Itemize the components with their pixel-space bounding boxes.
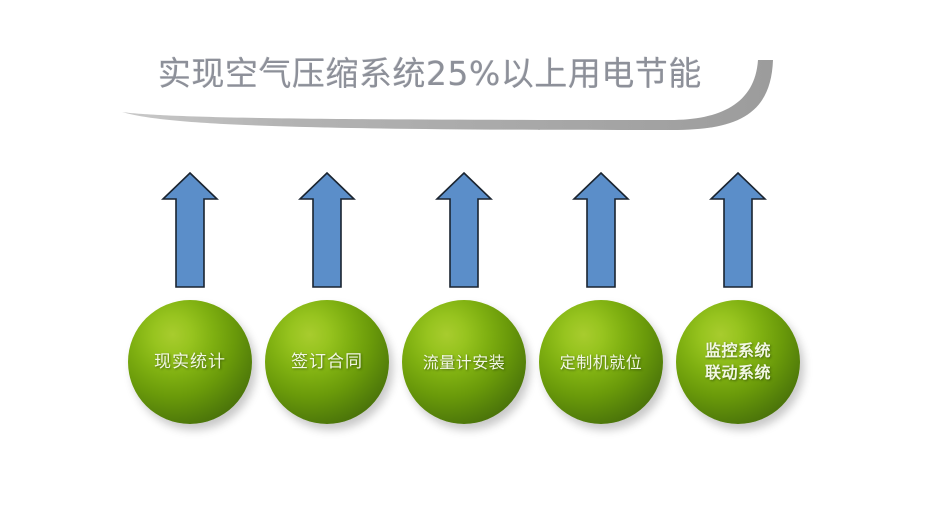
up-arrow-icon [435, 170, 493, 290]
process-step-sphere-2[interactable]: 签订合同 [265, 300, 389, 424]
process-step-label: 签订合同 [287, 351, 367, 374]
process-step-label: 监控系统 联动系统 [701, 340, 775, 384]
process-step-label: 定制机就位 [556, 351, 647, 374]
up-arrow-icon [709, 170, 767, 290]
process-step-sphere-5[interactable]: 监控系统 联动系统 [676, 300, 800, 424]
process-step-label: 流量计安装 [419, 351, 510, 374]
page-title: 实现空气压缩系统25%以上用电节能 [158, 52, 778, 96]
process-step-label: 现实统计 [150, 351, 230, 374]
up-arrow-icon [161, 170, 219, 290]
process-step-sphere-3[interactable]: 流量计安装 [402, 300, 526, 424]
process-step-sphere-4[interactable]: 定制机就位 [539, 300, 663, 424]
process-step-sphere-1[interactable]: 现实统计 [128, 300, 252, 424]
up-arrow-icon [298, 170, 356, 290]
slide-canvas: 实现空气压缩系统25%以上用电节能 现实统计 签订合同 流量计安装 定制机就位 … [0, 0, 945, 529]
title-banner: 实现空气压缩系统25%以上用电节能 [110, 38, 810, 138]
up-arrow-icon [572, 170, 630, 290]
